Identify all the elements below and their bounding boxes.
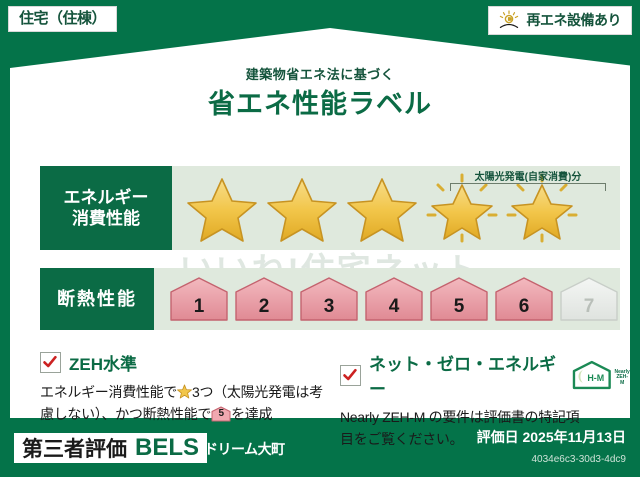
insulation-grade-4-value: 4 xyxy=(363,296,425,318)
svg-text:H-M: H-M xyxy=(587,373,604,383)
star-icon-4-solar xyxy=(424,173,500,243)
insulation-grade-3: 3 xyxy=(298,276,360,322)
zeh-standard-checkbox[interactable] xyxy=(40,352,61,373)
check-icon xyxy=(42,354,58,370)
net-zero-desc-line2: 目をご覧ください。 xyxy=(340,431,463,447)
star-rating xyxy=(172,173,580,243)
insulation-grade-5-value: 5 xyxy=(428,296,490,318)
net-zero-energy-title: ネット・ゼロ・エネルギー xyxy=(369,350,559,400)
property-name: ドリーム大町 xyxy=(204,439,285,459)
insulation-grade-4: 4 xyxy=(363,276,425,322)
zeh-standard-header: ZEH水準 xyxy=(40,350,330,375)
insulation-label-text: 断熱性能 xyxy=(57,288,137,311)
insulation-grade-6-value: 6 xyxy=(493,296,555,318)
inline-house-badge: 5 xyxy=(211,406,231,422)
zeh-standard-title: ZEH水準 xyxy=(69,350,137,375)
insulation-grades-panel: 1 2 3 xyxy=(154,268,620,330)
renewable-badge-text: 再エネ設備あり xyxy=(527,13,622,27)
net-zero-energy-checkbox[interactable] xyxy=(340,365,361,386)
insulation-grade-1: 1 xyxy=(168,276,230,322)
star-icon-2 xyxy=(264,173,340,243)
building-type-text: 住宅（住棟） xyxy=(19,10,106,27)
energy-performance-row: エネルギー 消費性能 xyxy=(40,166,620,250)
evaluation-id: 4034e6c3-30d3-4dc9 xyxy=(531,454,626,465)
insulation-label-box: 断熱性能 xyxy=(40,268,154,330)
zeh-m-logo-caption: Nearly ZEH-M xyxy=(614,370,630,391)
net-zero-energy-header: ネット・ゼロ・エネルギー H-M Nearly ZEH-M xyxy=(340,350,630,400)
zeh-standard-description: エネルギー消費性能で 3つ（太陽光発電は考慮しない）、かつ断熱性能で 5を達成 xyxy=(40,382,330,425)
evaluation-date: 評価日 2025年11月13日 xyxy=(477,427,626,447)
insulation-grade-6: 6 xyxy=(493,276,555,322)
energy-performance-stars-panel: 太陽光発電(自家消費)分 xyxy=(172,166,620,250)
sun-icon xyxy=(497,10,521,30)
insulation-grade-1-value: 1 xyxy=(168,296,230,318)
zeh-m-logo: H-M Nearly ZEH-M xyxy=(571,360,630,390)
inline-house-badge-value: 5 xyxy=(211,406,231,422)
inline-star-icon xyxy=(177,384,192,399)
zeh-desc-part4: を達成 xyxy=(231,406,272,422)
star-icon-3 xyxy=(344,173,420,243)
insulation-grade-7-value: 7 xyxy=(558,296,620,318)
check-icon xyxy=(342,367,358,383)
insulation-grade-7: 7 xyxy=(558,276,620,322)
energy-label-line2: 消費性能 xyxy=(72,208,140,229)
zeh-m-house-icon: H-M xyxy=(571,360,613,390)
star-icon-1 xyxy=(184,173,260,243)
energy-performance-label-box: エネルギー 消費性能 xyxy=(40,166,172,250)
label-title: 省エネ性能ラベル xyxy=(10,82,630,121)
zeh-desc-part2: 3つ（太陽光発電 xyxy=(192,384,295,400)
bels-en-text: BELS xyxy=(135,434,199,462)
star-icon-5-solar xyxy=(504,173,580,243)
label-content: 建築物省エネ法に基づく 省エネ性能ラベル いいね!住宅ネット エネルギー 消費性… xyxy=(10,28,630,418)
net-zero-desc-line1: Nearly ZEH-M の要件は評価書の特記項 xyxy=(340,409,579,425)
energy-label-line1: エネルギー xyxy=(64,187,149,208)
insulation-grade-3-value: 3 xyxy=(298,296,360,318)
energy-performance-label: 住宅（住棟） 再エネ設備あり 建築物省エネ法に基づく 省エネ性能ラベル い xyxy=(0,0,640,477)
insulation-grade-scale: 1 2 3 xyxy=(154,276,620,322)
zeh-desc-part1: エネルギー消費性能で xyxy=(40,384,177,400)
insulation-grade-2-value: 2 xyxy=(233,296,295,318)
label-subtitle: 建築物省エネ法に基づく xyxy=(10,64,630,83)
insulation-grade-2: 2 xyxy=(233,276,295,322)
bels-jp-text: 第三者評価 xyxy=(22,433,127,463)
zeh-standard-block: ZEH水準 エネルギー消費性能で 3つ（太陽光発電は考慮しない）、かつ断熱性能で… xyxy=(40,350,330,425)
zeh-m-caption-line2: ZEH-M xyxy=(616,374,628,386)
bels-badge: 第三者評価 BELS xyxy=(14,433,207,463)
insulation-grade-5: 5 xyxy=(428,276,490,322)
insulation-performance-row: 断熱性能 xyxy=(40,268,620,330)
